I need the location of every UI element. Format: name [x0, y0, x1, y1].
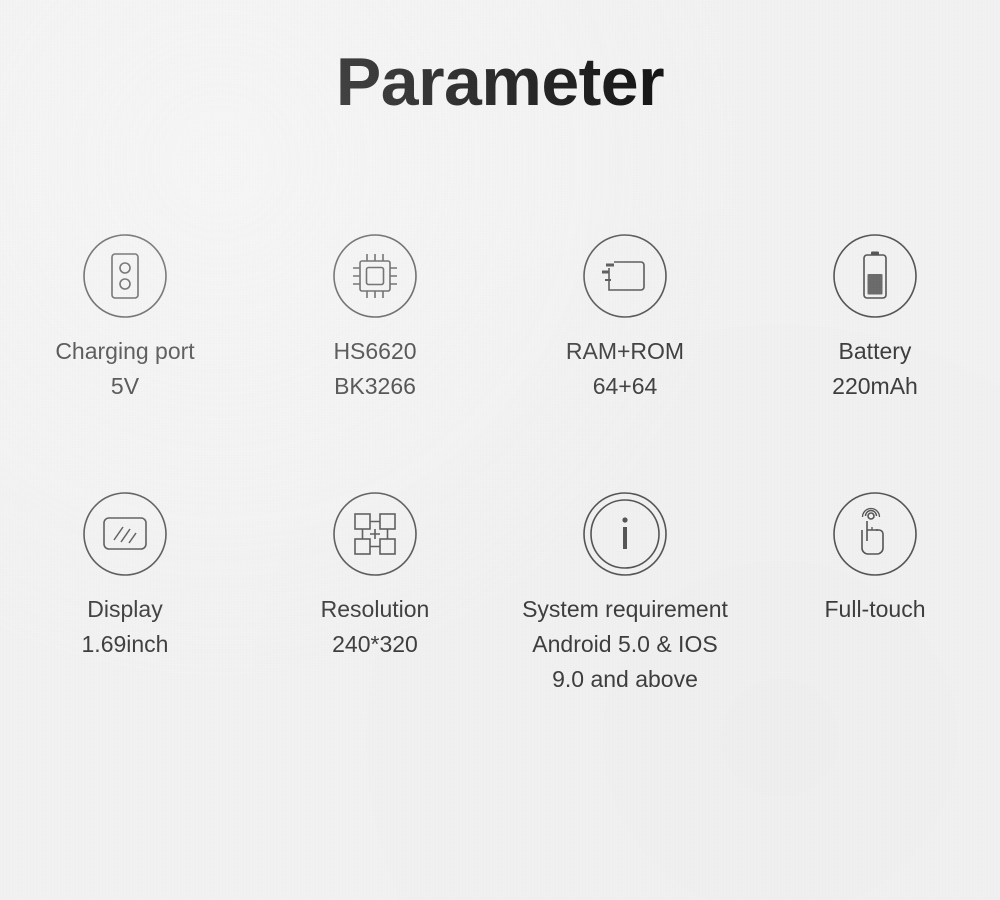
spec-line: RAM+ROM	[566, 334, 684, 369]
spec-item-memory: RAM+ROM 64+64	[500, 232, 750, 490]
spec-labels: Display 1.69inch	[82, 592, 169, 662]
spec-labels: Resolution 240*320	[321, 592, 430, 662]
spec-labels: Charging port 5V	[55, 334, 194, 404]
resolution-grid-icon	[331, 490, 419, 578]
charging-port-icon	[81, 232, 169, 320]
spec-line: Battery	[832, 334, 918, 369]
spec-item-system-requirement: System requirement Android 5.0 & IOS 9.0…	[500, 490, 750, 748]
spec-item-charging-port: Charging port 5V	[0, 232, 250, 490]
page-title: Parameter	[0, 42, 1000, 122]
spec-line: Android 5.0 & IOS	[522, 627, 728, 662]
spec-line: 9.0 and above	[522, 662, 728, 697]
parameter-page: Parameter Charging port 5V	[0, 0, 1000, 900]
spec-labels: RAM+ROM 64+64	[566, 334, 684, 404]
spec-labels: Battery 220mAh	[832, 334, 918, 404]
info-circle-icon	[581, 490, 669, 578]
spec-line: 5V	[55, 369, 194, 404]
spec-line: Display	[82, 592, 169, 627]
spec-item-display: Display 1.69inch	[0, 490, 250, 748]
spec-line: 220mAh	[832, 369, 918, 404]
spec-line: HS6620	[333, 334, 416, 369]
spec-item-chip: HS6620 BK3266	[250, 232, 500, 490]
spec-item-battery: Battery 220mAh	[750, 232, 1000, 490]
spec-line: BK3266	[333, 369, 416, 404]
memory-card-icon	[581, 232, 669, 320]
cpu-chip-icon	[331, 232, 419, 320]
spec-line: 240*320	[321, 627, 430, 662]
spec-line: 64+64	[566, 369, 684, 404]
touch-hand-icon	[831, 490, 919, 578]
spec-item-resolution: Resolution 240*320	[250, 490, 500, 748]
spec-line: Resolution	[321, 592, 430, 627]
spec-labels: HS6620 BK3266	[333, 334, 416, 404]
spec-grid: Charging port 5V HS6620 BK3266	[0, 232, 1000, 748]
spec-labels: System requirement Android 5.0 & IOS 9.0…	[522, 592, 728, 697]
spec-line: 1.69inch	[82, 627, 169, 662]
spec-labels: Full-touch	[825, 592, 926, 627]
spec-line: Charging port	[55, 334, 194, 369]
battery-icon	[831, 232, 919, 320]
spec-line: System requirement	[522, 592, 728, 627]
spec-item-full-touch: Full-touch	[750, 490, 1000, 748]
spec-line: Full-touch	[825, 592, 926, 627]
display-screen-icon	[81, 490, 169, 578]
